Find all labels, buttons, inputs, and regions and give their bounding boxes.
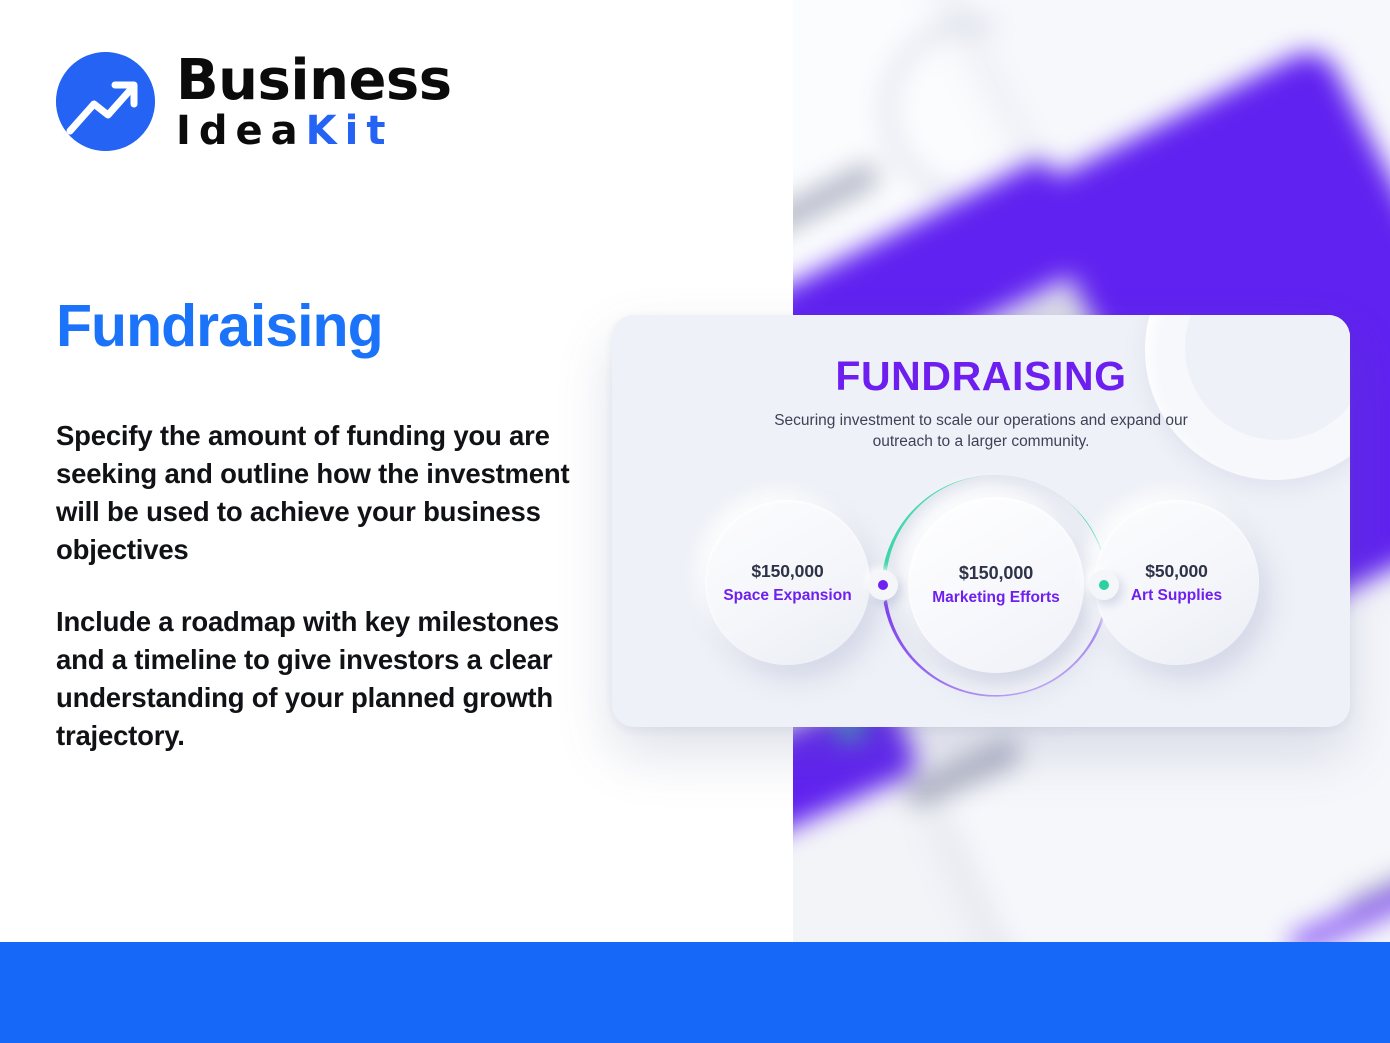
fundraising-card: FUNDRAISING Securing investment to scale…: [612, 315, 1350, 727]
brand-wordmark: Business IdeaKit: [176, 53, 452, 151]
right-node-dot: [1089, 570, 1119, 600]
footer-bar: [0, 942, 1390, 1043]
body-paragraph-2: Include a roadmap with key milestones an…: [56, 603, 576, 755]
brand-name-idea: Idea: [176, 108, 306, 154]
funding-allocation-diagram: $150,000 Space Expansion: [612, 465, 1350, 695]
slide-page: Business IdeaKit Fundraising Specify the…: [0, 0, 1390, 1043]
funding-amount: $150,000: [751, 561, 823, 582]
left-node-dot: [868, 570, 898, 600]
brand-name-kit: Kit: [306, 108, 394, 154]
funding-item-center-wrap: $150,000 Marketing Efforts: [876, 465, 1116, 705]
card-subtitle: Securing investment to scale our operati…: [771, 411, 1191, 452]
page-title: Fundraising: [56, 295, 383, 359]
body-copy: Specify the amount of funding you are se…: [56, 417, 576, 755]
growth-chart-circle-icon: [56, 52, 155, 151]
funding-label: Marketing Efforts: [932, 589, 1059, 607]
funding-label: Space Expansion: [723, 587, 851, 605]
funding-label: Art Supplies: [1131, 587, 1222, 605]
funding-amount: $50,000: [1145, 561, 1208, 582]
funding-item-center[interactable]: $150,000 Marketing Efforts: [908, 497, 1084, 673]
funding-item-left[interactable]: $150,000 Space Expansion: [705, 500, 870, 665]
brand-logo: Business IdeaKit: [56, 52, 452, 151]
card-title: FUNDRAISING: [612, 353, 1350, 400]
brand-name-line2: IdeaKit: [176, 111, 452, 151]
funding-amount: $150,000: [959, 563, 1033, 584]
brand-name-line1: Business: [176, 53, 452, 109]
body-paragraph-1: Specify the amount of funding you are se…: [56, 417, 576, 569]
